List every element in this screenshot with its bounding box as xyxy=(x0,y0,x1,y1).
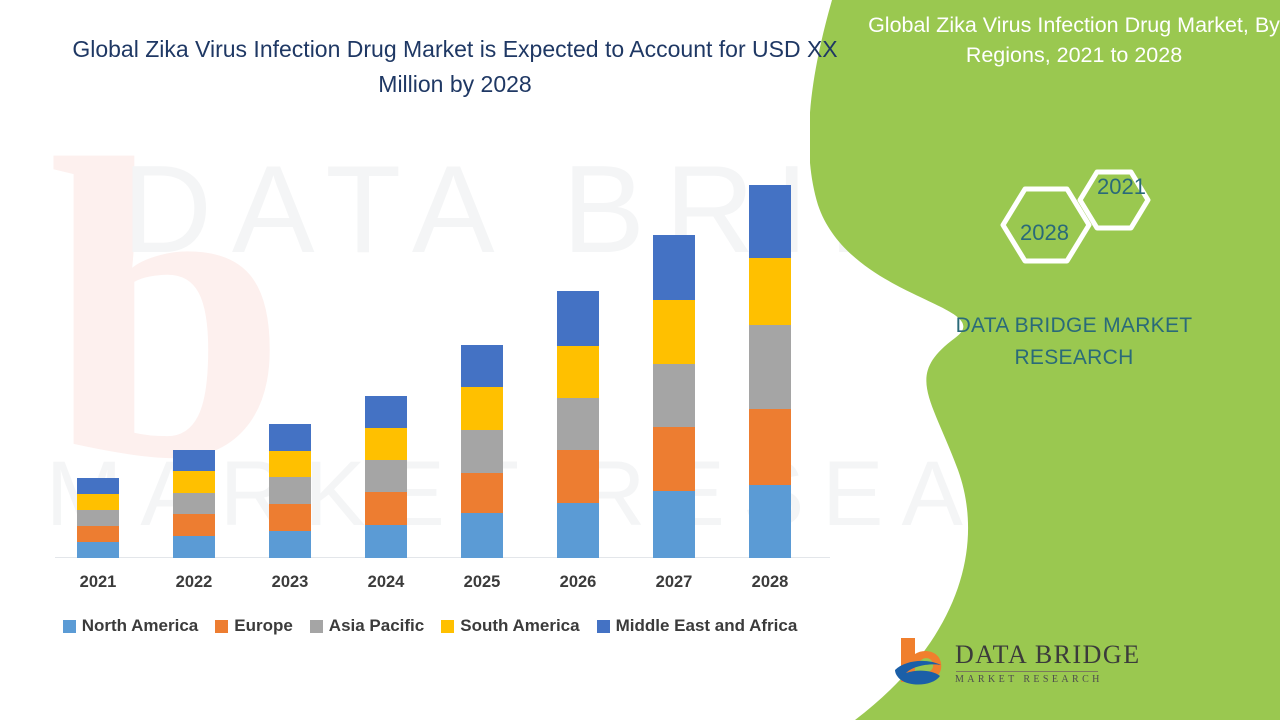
hexagon-2028-label: 2028 xyxy=(1020,220,1069,246)
bar-segment-2026-north-america xyxy=(557,503,599,558)
bar-2026 xyxy=(557,291,599,558)
bar-segment-2027-asia-pacific xyxy=(653,364,695,427)
bar-2025 xyxy=(461,345,503,558)
bar-segment-2023-asia-pacific xyxy=(269,477,311,504)
bar-2021 xyxy=(77,478,119,558)
infographic-page: b DATA BRIDGE MARKET RESEARCH Global Zik… xyxy=(0,0,1280,720)
data-bridge-logo-icon xyxy=(893,632,955,699)
legend-label: Asia Pacific xyxy=(329,616,424,636)
bar-segment-2024-europe xyxy=(365,492,407,525)
logo-sub-text: MARKET RESEARCH xyxy=(955,674,1141,685)
bar-2028 xyxy=(749,185,791,558)
bar-segment-2023-europe xyxy=(269,504,311,531)
logo-divider xyxy=(956,671,1098,672)
plot-area xyxy=(55,150,830,558)
bar-segment-2026-europe xyxy=(557,450,599,503)
logo-main-text: DATA BRIDGE xyxy=(955,641,1141,669)
bar-segment-2028-south-america xyxy=(749,258,791,325)
bar-segment-2026-asia-pacific xyxy=(557,398,599,450)
legend-label: Middle East and Africa xyxy=(616,616,798,636)
bar-segment-2022-europe xyxy=(173,514,215,536)
legend-label: Europe xyxy=(234,616,293,636)
logo-wordmark: DATA BRIDGE MARKET RESEARCH xyxy=(955,641,1141,685)
bar-segment-2022-north-america xyxy=(173,536,215,558)
legend-swatch-icon xyxy=(215,620,228,633)
bar-segment-2026-south-america xyxy=(557,346,599,398)
legend-label: North America xyxy=(82,616,199,636)
bar-segment-2022-middle-east-and-africa xyxy=(173,450,215,471)
x-axis-tick-2024: 2024 xyxy=(341,573,431,592)
bar-segment-2028-europe xyxy=(749,409,791,485)
bar-segment-2026-middle-east-and-africa xyxy=(557,291,599,346)
bar-segment-2021-europe xyxy=(77,526,119,542)
panel-brand-text: DATA BRIDGE MARKET RESEARCH xyxy=(938,310,1210,374)
legend-swatch-icon xyxy=(597,620,610,633)
bar-segment-2024-south-america xyxy=(365,428,407,460)
x-axis-tick-2028: 2028 xyxy=(725,573,815,592)
bar-segment-2028-middle-east-and-africa xyxy=(749,185,791,258)
bar-segment-2025-europe xyxy=(461,473,503,513)
x-axis-tick-2027: 2027 xyxy=(629,573,719,592)
bar-segment-2024-asia-pacific xyxy=(365,460,407,492)
hexagon-group xyxy=(985,155,1185,285)
bar-segment-2024-north-america xyxy=(365,525,407,558)
bar-segment-2023-middle-east-and-africa xyxy=(269,424,311,451)
chart-legend: North AmericaEuropeAsia PacificSouth Ame… xyxy=(0,616,860,636)
legend-item-middle-east-and-africa[interactable]: Middle East and Africa xyxy=(597,616,798,636)
bar-2027 xyxy=(653,235,695,558)
panel-heading: Global Zika Virus Infection Drug Market,… xyxy=(868,10,1280,70)
legend-item-asia-pacific[interactable]: Asia Pacific xyxy=(310,616,424,636)
bar-segment-2021-south-america xyxy=(77,494,119,510)
x-axis-tick-2021: 2021 xyxy=(53,573,143,592)
hexagon-2021-label: 2021 xyxy=(1097,174,1146,200)
bar-segment-2027-middle-east-and-africa xyxy=(653,235,695,300)
bar-segment-2025-asia-pacific xyxy=(461,430,503,473)
bar-segment-2025-south-america xyxy=(461,387,503,430)
bar-segment-2022-south-america xyxy=(173,471,215,493)
stacked-bar-chart: 20212022202320242025202620272028 xyxy=(0,0,860,720)
bar-segment-2021-north-america xyxy=(77,542,119,558)
bar-segment-2028-asia-pacific xyxy=(749,325,791,409)
bar-segment-2027-south-america xyxy=(653,300,695,364)
legend-item-europe[interactable]: Europe xyxy=(215,616,293,636)
bar-segment-2027-europe xyxy=(653,427,695,491)
bar-2024 xyxy=(365,396,407,558)
bar-segment-2021-middle-east-and-africa xyxy=(77,478,119,494)
x-axis-tick-2025: 2025 xyxy=(437,573,527,592)
bar-2023 xyxy=(269,424,311,558)
legend-swatch-icon xyxy=(441,620,454,633)
legend-item-south-america[interactable]: South America xyxy=(441,616,579,636)
bar-segment-2022-asia-pacific xyxy=(173,493,215,514)
legend-item-north-america[interactable]: North America xyxy=(63,616,199,636)
bar-segment-2023-north-america xyxy=(269,531,311,558)
x-axis-tick-2023: 2023 xyxy=(245,573,335,592)
bar-segment-2025-middle-east-and-africa xyxy=(461,345,503,387)
x-axis-tick-2026: 2026 xyxy=(533,573,623,592)
legend-swatch-icon xyxy=(63,620,76,633)
bar-segment-2023-south-america xyxy=(269,451,311,477)
legend-label: South America xyxy=(460,616,579,636)
legend-swatch-icon xyxy=(310,620,323,633)
bar-segment-2028-north-america xyxy=(749,485,791,558)
bar-segment-2025-north-america xyxy=(461,513,503,558)
x-axis-tick-2022: 2022 xyxy=(149,573,239,592)
bar-segment-2027-north-america xyxy=(653,491,695,558)
bar-segment-2021-asia-pacific xyxy=(77,510,119,526)
bar-2022 xyxy=(173,450,215,558)
bar-segment-2024-middle-east-and-africa xyxy=(365,396,407,428)
